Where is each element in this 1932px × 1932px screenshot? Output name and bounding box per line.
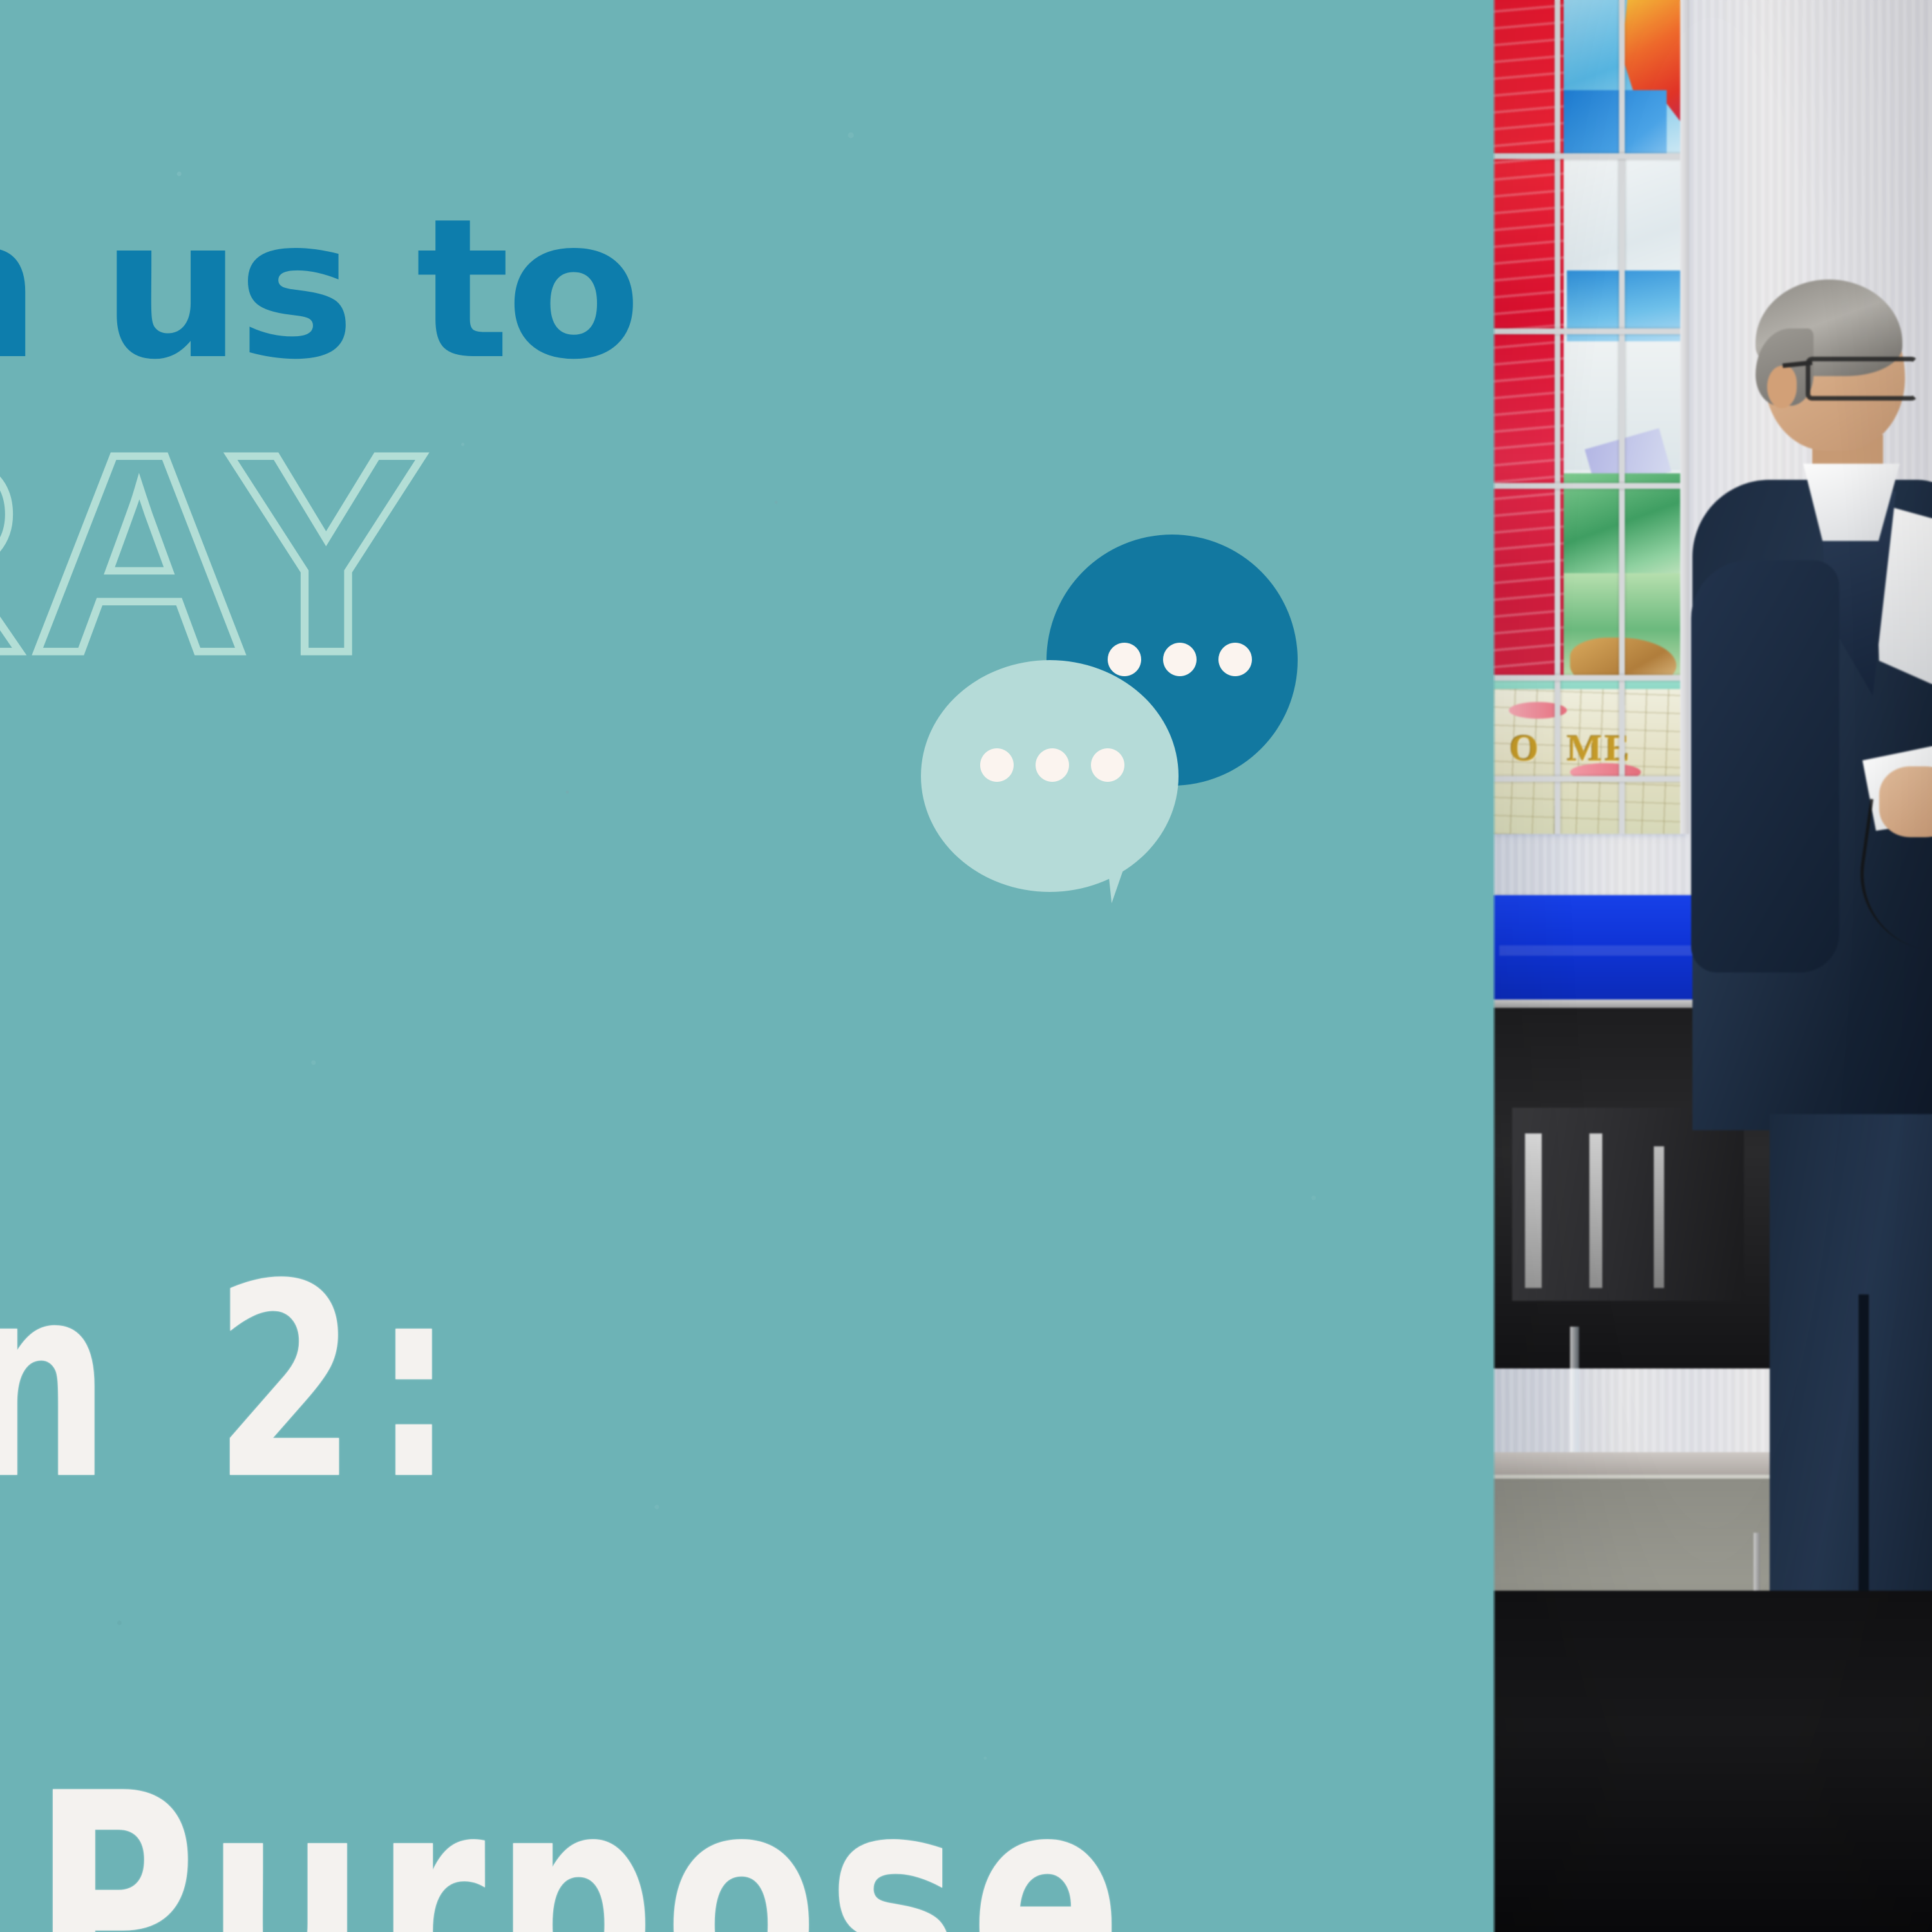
dot (1218, 643, 1252, 676)
series-title-line-1: ch us to (0, 193, 1310, 386)
dot (1036, 748, 1069, 782)
title-panel: ch us to RAY on 2: Purpose (0, 0, 1493, 1932)
dot (1108, 643, 1141, 676)
dot (1163, 643, 1197, 676)
arm (1691, 560, 1839, 972)
cabinet-strip (1525, 1133, 1542, 1288)
photo-left-seam (1493, 0, 1496, 1932)
slide-canvas: ch us to RAY on 2: Purpose (0, 0, 1932, 1932)
sermon-photo: O ME (1493, 0, 1932, 1932)
dot (1091, 748, 1124, 782)
speech-bubbles-group (921, 535, 1333, 934)
dot (980, 748, 1014, 782)
speech-bubble-dark-dots (1108, 643, 1252, 676)
series-title-line-2-outlined: RAY (0, 412, 431, 696)
session-topic-text: Purpose (32, 1755, 1480, 1932)
ear (1767, 366, 1797, 408)
cabinet-strip (1589, 1133, 1602, 1288)
session-number-text: on 2: (0, 1249, 1210, 1517)
stained-glass-inscription: O ME (1498, 724, 1686, 771)
stage-floor (1493, 1591, 1932, 1932)
stained-glass-window: O ME (1493, 0, 1686, 834)
stained-glass-panes: O ME (1493, 0, 1686, 834)
eyeglasses (1806, 357, 1918, 401)
glass-letter-o: O (1510, 726, 1541, 770)
cabinet-strip (1654, 1146, 1664, 1288)
speech-bubble-light-dots (980, 748, 1124, 782)
